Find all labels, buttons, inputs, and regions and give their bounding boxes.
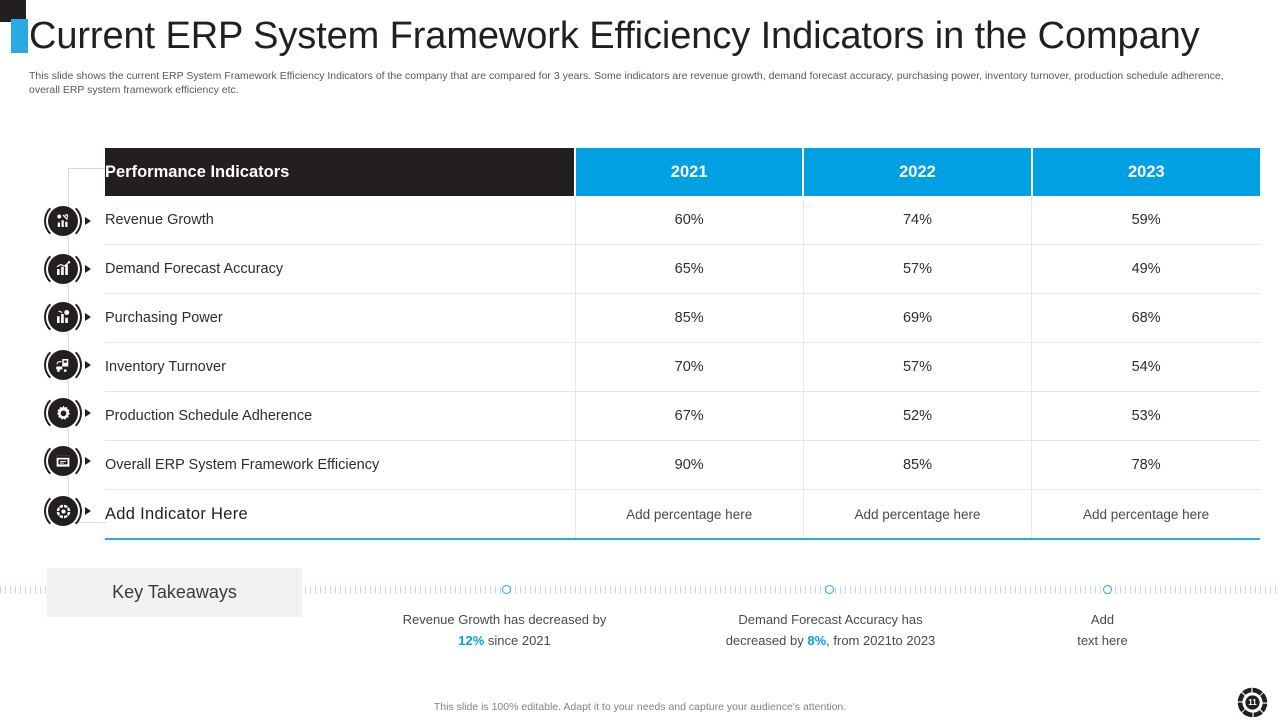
takeaway-note-1-line2: since 2021 xyxy=(484,633,551,648)
takeaway-note-3[interactable]: Add text here xyxy=(1035,609,1170,651)
value-2023: 53% xyxy=(1032,392,1260,441)
table-row: Revenue Growth 60% 74% 59% xyxy=(105,196,1260,245)
value-2021: 65% xyxy=(575,245,803,294)
erp-efficiency-icon xyxy=(48,446,78,476)
table-row: Overall ERP System Framework Efficiency … xyxy=(105,441,1260,490)
value-2023: 59% xyxy=(1032,196,1260,245)
revenue-growth-icon xyxy=(48,206,78,236)
rail-arrow-icon xyxy=(85,507,91,515)
inventory-turnover-icon xyxy=(48,350,78,380)
add-indicator-icon xyxy=(48,496,78,526)
column-header-2022: 2022 xyxy=(803,148,1031,196)
indicator-name: Overall ERP System Framework Efficiency xyxy=(105,441,575,490)
value-2021: 70% xyxy=(575,343,803,392)
takeaway-note-2: Demand Forecast Accuracy has decreased b… xyxy=(693,609,968,651)
column-header-2023: 2023 xyxy=(1032,148,1260,196)
value-2022-placeholder[interactable]: Add percentage here xyxy=(803,490,1031,540)
table-row-placeholder[interactable]: Add Indicator Here Add percentage here A… xyxy=(105,490,1260,540)
page-subtitle: This slide shows the current ERP System … xyxy=(29,69,1227,97)
table-row: Purchasing Power 85% 69% 68% xyxy=(105,294,1260,343)
column-header-2021: 2021 xyxy=(575,148,803,196)
table-row: Inventory Turnover 70% 57% 54% xyxy=(105,343,1260,392)
table-row: Demand Forecast Accuracy 65% 57% 49% xyxy=(105,245,1260,294)
indicator-name: Demand Forecast Accuracy xyxy=(105,245,575,294)
value-2021-placeholder[interactable]: Add percentage here xyxy=(575,490,803,540)
performance-indicators-table: Performance Indicators 2021 2022 2023 Re… xyxy=(105,148,1260,540)
indicator-name: Revenue Growth xyxy=(105,196,575,245)
value-2023: 78% xyxy=(1032,441,1260,490)
key-takeaways-box: Key Takeaways xyxy=(47,568,302,617)
indicator-icon-rail xyxy=(48,196,94,536)
indicator-name-placeholder[interactable]: Add Indicator Here xyxy=(105,490,575,540)
takeaway-note-2-line2-pre: decreased by xyxy=(726,633,808,648)
value-2022: 52% xyxy=(803,392,1031,441)
rail-arrow-icon xyxy=(85,217,91,225)
indicator-name: Purchasing Power xyxy=(105,294,575,343)
takeaway-note-1-highlight: 12% xyxy=(458,633,484,648)
value-2022: 57% xyxy=(803,343,1031,392)
table-header-row: Performance Indicators 2021 2022 2023 xyxy=(105,148,1260,196)
rail-item-add-indicator[interactable] xyxy=(48,494,94,528)
value-2021: 85% xyxy=(575,294,803,343)
rail-item-demand-forecast[interactable] xyxy=(48,252,94,286)
rail-arrow-icon xyxy=(85,265,91,273)
takeaway-marker-3 xyxy=(1103,585,1112,594)
takeaway-note-3-line1: Add xyxy=(1091,612,1114,627)
takeaway-marker-1 xyxy=(502,585,511,594)
takeaway-note-3-line2: text here xyxy=(1077,633,1128,648)
value-2023: 49% xyxy=(1032,245,1260,294)
rail-item-inventory-turnover[interactable] xyxy=(48,348,94,382)
demand-forecast-icon xyxy=(48,254,78,284)
value-2023-placeholder[interactable]: Add percentage here xyxy=(1032,490,1260,540)
value-2022: 69% xyxy=(803,294,1031,343)
rail-arrow-icon xyxy=(85,409,91,417)
indicator-name: Production Schedule Adherence xyxy=(105,392,575,441)
rail-arrow-icon xyxy=(85,361,91,369)
footer-note: This slide is 100% editable. Adapt it to… xyxy=(0,701,1280,713)
takeaway-marker-2 xyxy=(825,585,834,594)
value-2023: 68% xyxy=(1032,294,1260,343)
rail-item-erp-efficiency[interactable] xyxy=(48,444,94,478)
production-schedule-icon xyxy=(48,398,78,428)
rail-arrow-icon xyxy=(85,313,91,321)
value-2021: 60% xyxy=(575,196,803,245)
value-2021: 67% xyxy=(575,392,803,441)
table-row: Production Schedule Adherence 67% 52% 53… xyxy=(105,392,1260,441)
value-2022: 74% xyxy=(803,196,1031,245)
takeaway-note-1-line1: Revenue Growth has decreased by xyxy=(403,612,607,627)
rail-arrow-icon xyxy=(85,457,91,465)
indicator-name: Inventory Turnover xyxy=(105,343,575,392)
takeaway-note-1: Revenue Growth has decreased by 12% sinc… xyxy=(372,609,637,651)
value-2022: 57% xyxy=(803,245,1031,294)
page-title: Current ERP System Framework Efficiency … xyxy=(29,12,1229,60)
rail-item-purchasing-power[interactable] xyxy=(48,300,94,334)
corner-accent-block xyxy=(11,19,28,53)
value-2023: 54% xyxy=(1032,343,1260,392)
takeaway-note-2-line2-post: , from 2021to 2023 xyxy=(826,633,935,648)
value-2022: 85% xyxy=(803,441,1031,490)
purchasing-power-icon xyxy=(48,302,78,332)
rail-item-revenue-growth[interactable] xyxy=(48,204,94,238)
brand-logo: 11 xyxy=(1237,687,1268,718)
rail-item-production-schedule[interactable] xyxy=(48,396,94,430)
column-header-indicators: Performance Indicators xyxy=(105,148,575,196)
key-takeaways-label: Key Takeaways xyxy=(112,582,237,603)
takeaway-note-2-line1: Demand Forecast Accuracy has xyxy=(738,612,922,627)
takeaway-note-2-highlight: 8% xyxy=(807,633,826,648)
value-2021: 90% xyxy=(575,441,803,490)
brand-logo-number: 11 xyxy=(1237,687,1268,718)
